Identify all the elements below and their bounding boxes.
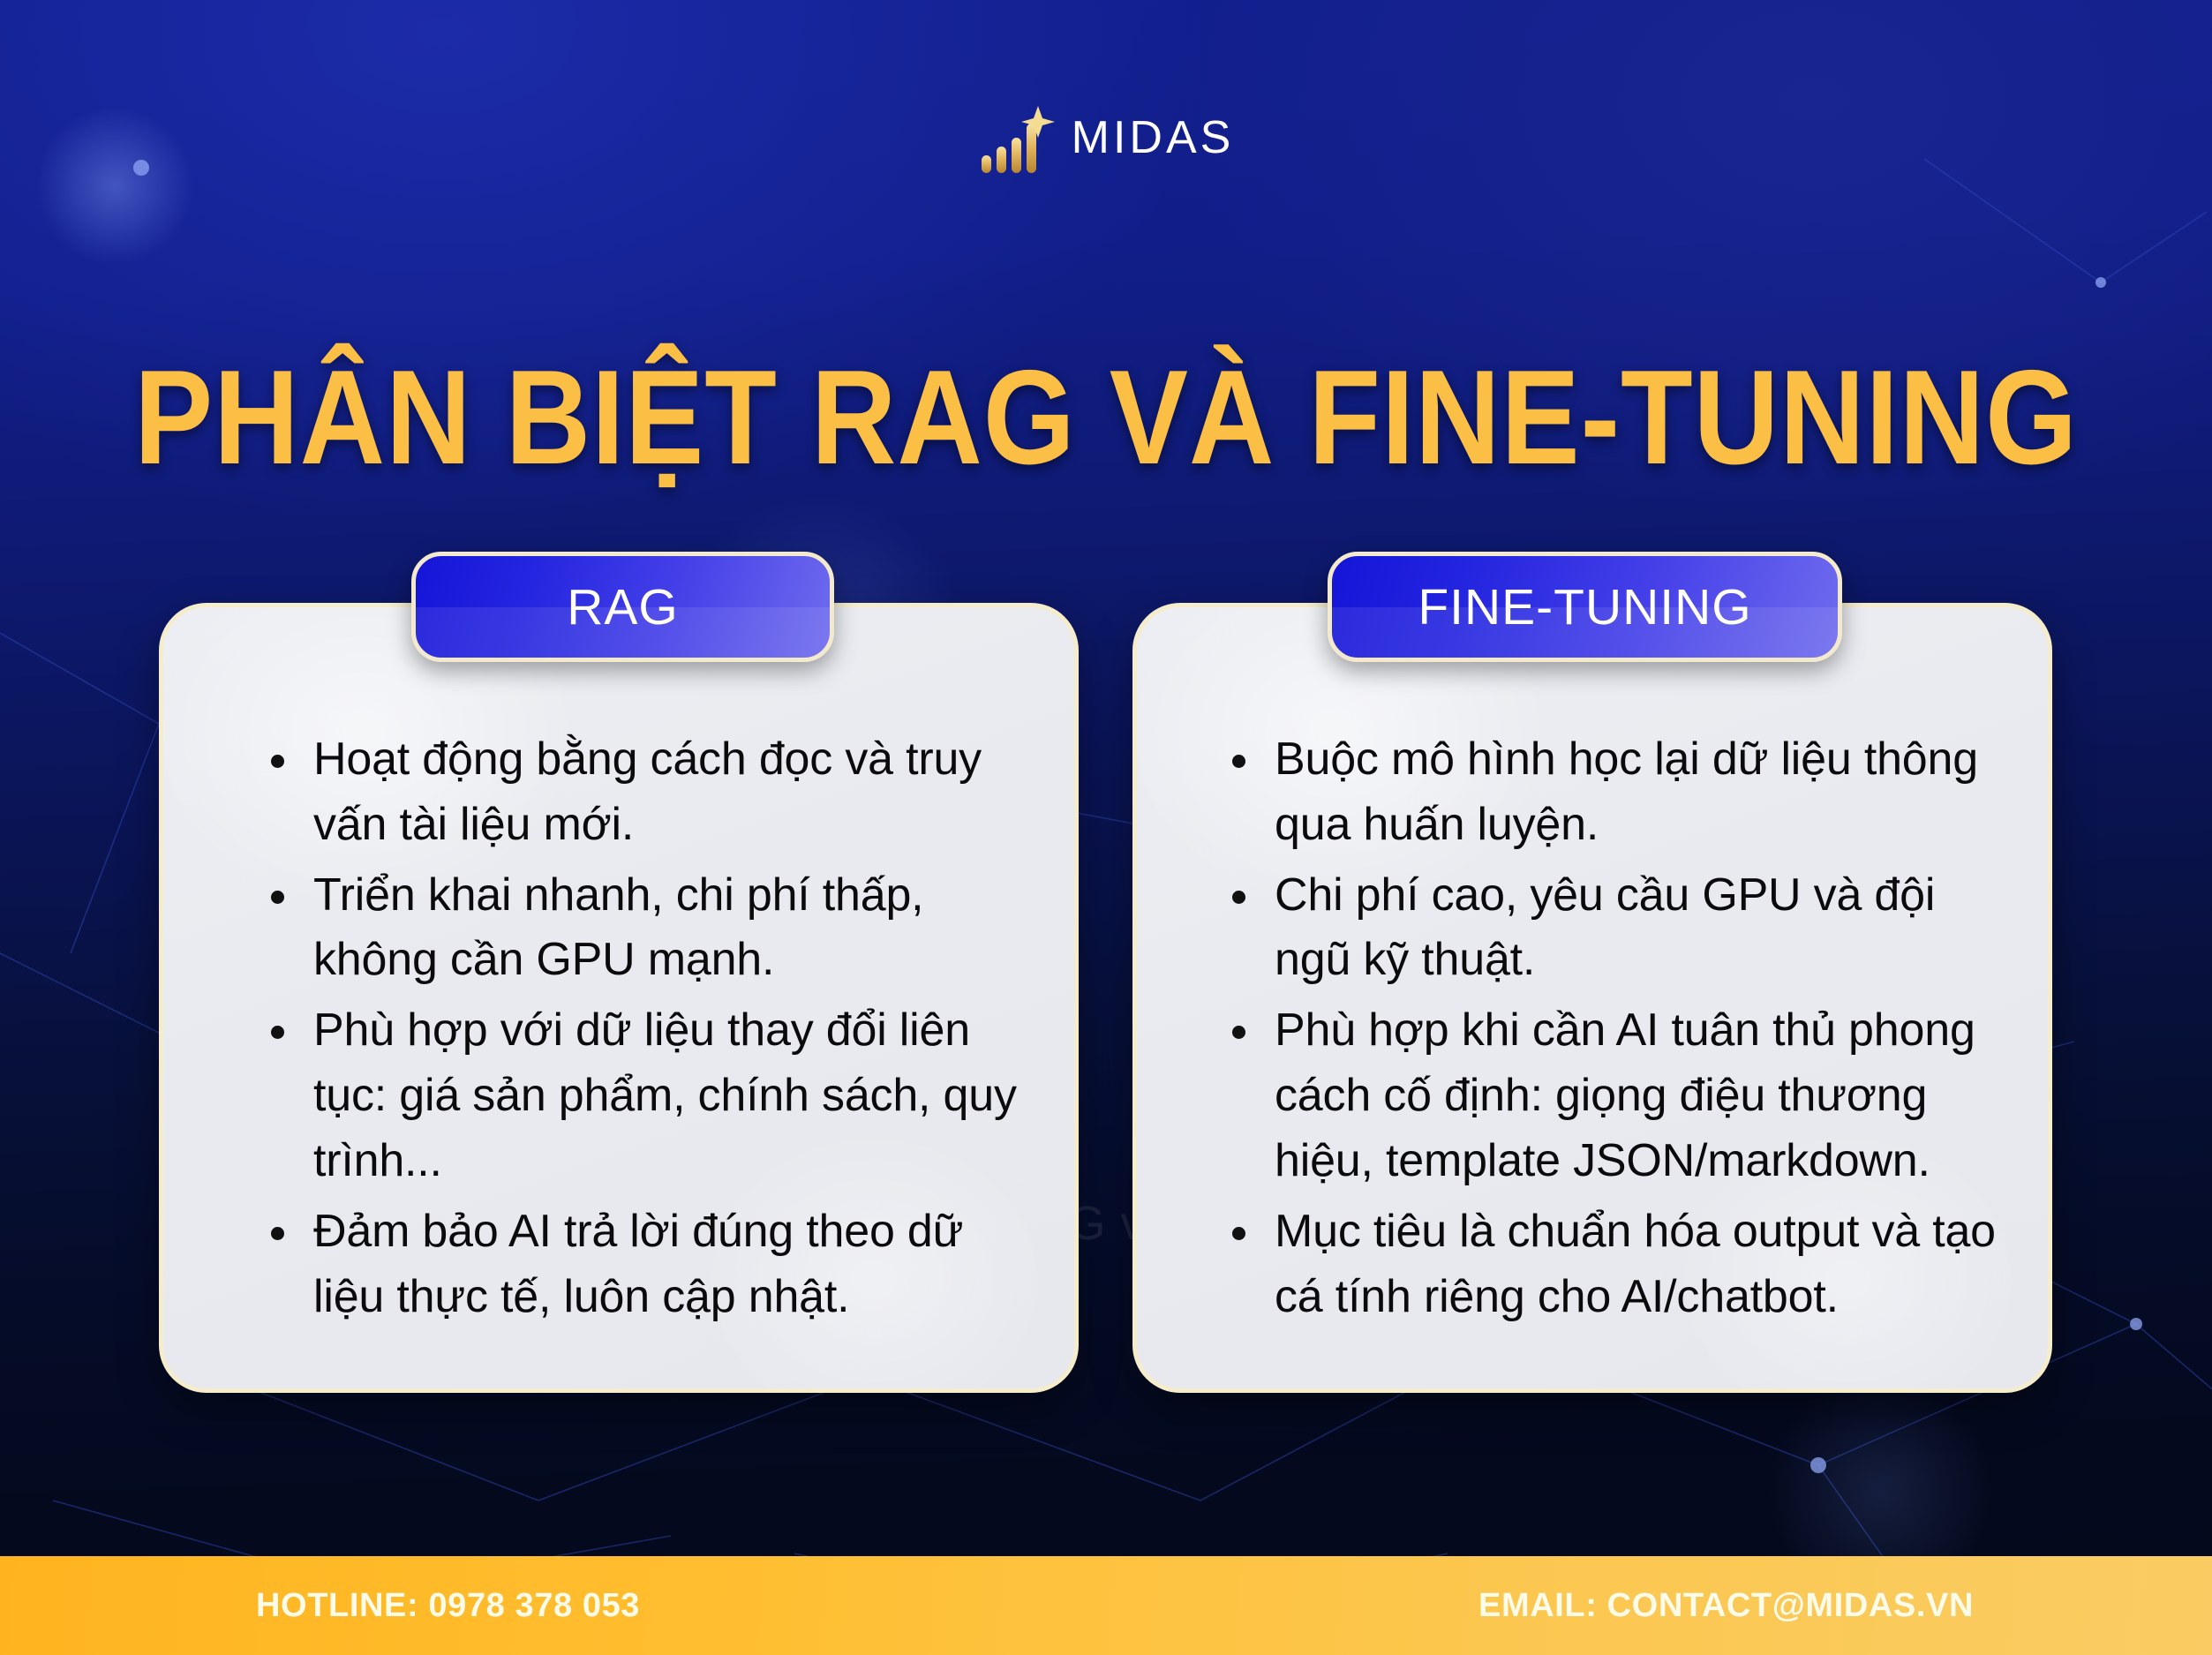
footer-hotline: HOTLINE: 0978 378 053 [256, 1587, 640, 1625]
fine-tuning-bullet-list: Buộc mô hình học lại dữ liệu thông qua h… [1223, 727, 2013, 1335]
page-title: PHÂN BIỆT RAG VÀ FINE-TUNING [132, 350, 2079, 485]
list-item: Mục tiêu là chuẩn hóa output và tạo cá t… [1223, 1200, 2013, 1330]
card-fine-tuning: Buộc mô hình học lại dữ liệu thông qua h… [1132, 603, 2052, 1393]
footer-email: EMAIL: CONTACT@MIDAS.VN [1478, 1587, 1974, 1625]
list-item: Hoạt động bằng cách đọc và truy vấn tài … [262, 727, 1021, 858]
brand-logo-text: MIDAS [1072, 115, 1235, 164]
footer-bar: HOTLINE: 0978 378 053 EMAIL: CONTACT@MID… [0, 1556, 2212, 1655]
bar-chart-star-icon [978, 104, 1057, 175]
brand-logo: MIDAS [0, 104, 2212, 175]
badge-rag-label: RAG [567, 578, 679, 636]
badge-rag: RAG [411, 552, 834, 662]
list-item: Đảm bảo AI trả lời đúng theo dữ liệu thự… [262, 1200, 1021, 1330]
rag-bullet-list: Hoạt động bằng cách đọc và truy vấn tài … [262, 727, 1021, 1335]
badge-fine-tuning: FINE-TUNING [1328, 552, 1842, 662]
poster-canvas: MIDAS PHÂN BIỆT RAG VÀ FINE-TUNING Phân … [0, 0, 2212, 1655]
list-item: Triển khai nhanh, chi phí thấp, không cầ… [262, 863, 1021, 994]
list-item: Chi phí cao, yêu cầu GPU và đội ngũ kỹ t… [1223, 863, 2013, 994]
list-item: Buộc mô hình học lại dữ liệu thông qua h… [1223, 727, 2013, 858]
badge-fine-tuning-label: FINE-TUNING [1418, 578, 1751, 636]
list-item: Phù hợp khi cần AI tuân thủ phong cách c… [1223, 998, 2013, 1193]
card-rag: Hoạt động bằng cách đọc và truy vấn tài … [159, 603, 1079, 1393]
list-item: Phù hợp với dữ liệu thay đổi liên tục: g… [262, 998, 1021, 1193]
